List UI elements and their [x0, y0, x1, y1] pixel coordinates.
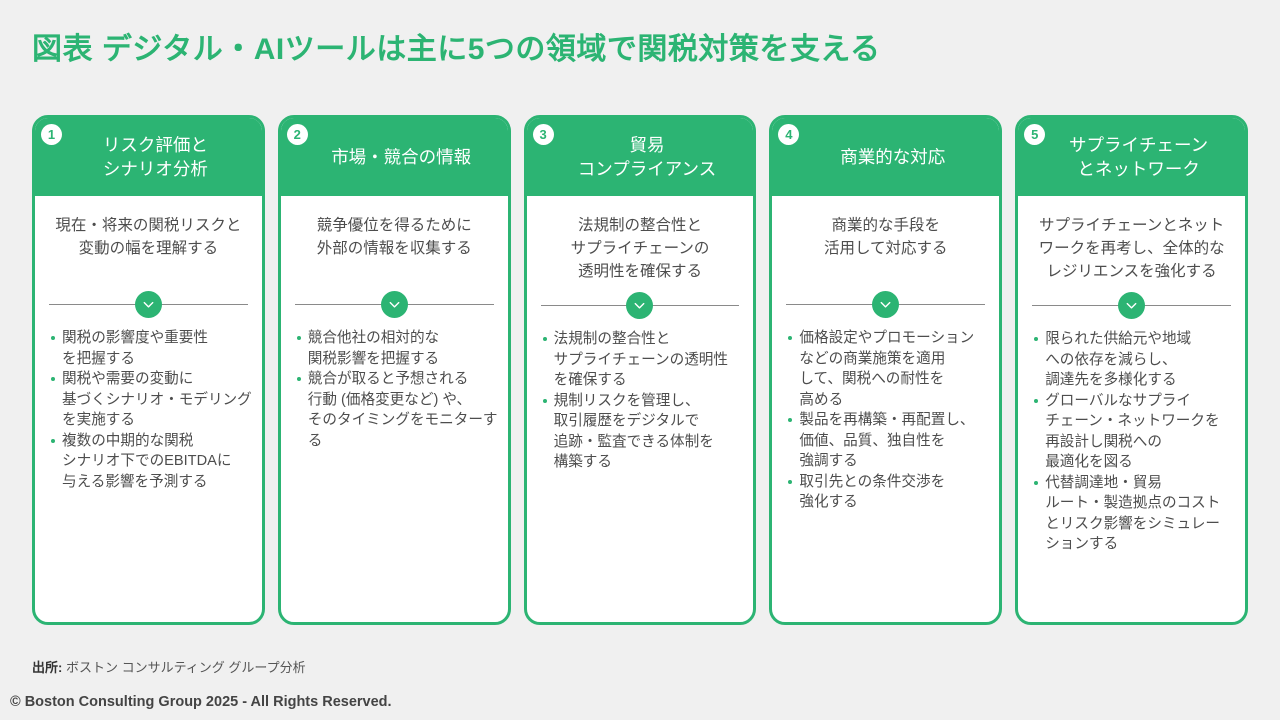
list-item: 競合他社の相対的な 関税影響を把握する [295, 328, 498, 369]
card-3-subtitle: 法規制の整合性と サプライチェーンの 透明性を確保する [527, 196, 754, 283]
card-1-number-badge: 1 [41, 124, 62, 145]
chevron-down-icon [872, 291, 899, 318]
card-1-body: 現在・将来の関税リスクと 変動の幅を理解する 関税の影響度や重要性 を把握する … [35, 196, 262, 622]
card-3-body: 法規制の整合性と サプライチェーンの 透明性を確保する 法規制の整合性と サプラ… [527, 196, 754, 622]
list-item: 法規制の整合性と サプライチェーンの透明性 を確保する [541, 329, 744, 391]
list-item: 関税や需要の変動に 基づくシナリオ・モデリング を実施する [49, 369, 252, 431]
card-1-subtitle: 現在・将来の関税リスクと 変動の幅を理解する [35, 196, 262, 282]
source-label: 出所: [32, 660, 62, 675]
list-item: 代替調達地・貿易 ルート・製造拠点のコスト とリスク影響をシミュレー ションする [1032, 473, 1235, 555]
card-1-header: 1 リスク評価と シナリオ分析 [35, 118, 262, 196]
card-1: 1 リスク評価と シナリオ分析 現在・将来の関税リスクと 変動の幅を理解する 関… [32, 115, 265, 625]
card-4-divider [772, 282, 999, 326]
cards-container: 1 リスク評価と シナリオ分析 現在・将来の関税リスクと 変動の幅を理解する 関… [32, 115, 1248, 625]
list-item: 取引先との条件交渉を 強化する [786, 472, 989, 513]
card-2-title: 市場・競合の情報 [315, 145, 473, 169]
list-item: 価格設定やプロモーション などの商業施策を適用 して、関税への耐性を 高める [786, 328, 989, 410]
card-5-body: サプライチェーンとネット ワークを再考し、全体的な レジリエンスを強化する 限ら… [1018, 196, 1245, 622]
card-5-divider [1018, 283, 1245, 327]
card-2-subtitle: 競争優位を得るために 外部の情報を収集する [281, 196, 508, 282]
card-3-divider [527, 283, 754, 327]
card-2-divider [281, 282, 508, 326]
list-item: 限られた供給元や地域 への依存を減らし、 調達先を多様化する [1032, 329, 1235, 391]
card-2-body: 競争優位を得るために 外部の情報を収集する 競合他社の相対的な 関税影響を把握す… [281, 196, 508, 622]
card-2: 2 市場・競合の情報 競争優位を得るために 外部の情報を収集する 競合他社の相対… [278, 115, 511, 625]
card-5-number-badge: 5 [1024, 124, 1045, 145]
card-3-title: 貿易 コンプライアンス [562, 133, 718, 181]
copyright-notice: © Boston Consulting Group 2025 - All Rig… [10, 694, 392, 710]
page-title: 図表 デジタル・AIツールは主に5つの領域で関税対策を支える [32, 24, 881, 68]
card-4-subtitle: 商業的な手段を 活用して対応する [772, 196, 999, 282]
card-4-title: 商業的な対応 [824, 145, 947, 169]
card-5-bullets: 限られた供給元や地域 への依存を減らし、 調達先を多様化する グローバルなサプラ… [1018, 327, 1245, 622]
card-1-bullets: 関税の影響度や重要性 を把握する 関税や需要の変動に 基づくシナリオ・モデリング… [35, 326, 262, 622]
card-1-divider [35, 282, 262, 326]
card-2-header: 2 市場・競合の情報 [281, 118, 508, 196]
card-4-bullets: 価格設定やプロモーション などの商業施策を適用 して、関税への耐性を 高める 製… [772, 326, 999, 622]
card-3-header: 3 貿易 コンプライアンス [527, 118, 754, 196]
list-item: 複数の中期的な関税 シナリオ下でのEBITDAに 与える影響を予測する [49, 431, 252, 493]
card-1-title: リスク評価と シナリオ分析 [87, 133, 210, 181]
card-2-bullets: 競合他社の相対的な 関税影響を把握する 競合が取ると予想される 行動 (価格変更… [281, 326, 508, 622]
card-5-header: 5 サプライチェーン とネットワーク [1018, 118, 1245, 196]
chevron-down-icon [1118, 292, 1145, 319]
card-4-header: 4 商業的な対応 [772, 118, 999, 196]
card-2-number-badge: 2 [287, 124, 308, 145]
source-text: ボストン コンサルティング グループ分析 [66, 660, 306, 675]
card-5: 5 サプライチェーン とネットワーク サプライチェーンとネット ワークを再考し、… [1015, 115, 1248, 625]
card-4: 4 商業的な対応 商業的な手段を 活用して対応する 価格設定やプロモーション な… [769, 115, 1002, 625]
list-item: グローバルなサプライ チェーン・ネットワークを 再設計し関税への 最適化を図る [1032, 391, 1235, 473]
card-4-body: 商業的な手段を 活用して対応する 価格設定やプロモーション などの商業施策を適用… [772, 196, 999, 622]
list-item: 規制リスクを管理し、 取引履歴をデジタルで 追跡・監査できる体制を 構築する [541, 391, 744, 473]
card-4-number-badge: 4 [778, 124, 799, 145]
card-5-title: サプライチェーン とネットワーク [1053, 133, 1210, 181]
chevron-down-icon [135, 291, 162, 318]
chevron-down-icon [626, 292, 653, 319]
source-note: 出所: ボストン コンサルティング グループ分析 [32, 657, 306, 676]
chevron-down-icon [381, 291, 408, 318]
list-item: 関税の影響度や重要性 を把握する [49, 328, 252, 369]
list-item: 製品を再構築・再配置し、 価値、品質、独自性を 強調する [786, 410, 989, 472]
card-5-subtitle: サプライチェーンとネット ワークを再考し、全体的な レジリエンスを強化する [1018, 196, 1245, 283]
card-3-number-badge: 3 [533, 124, 554, 145]
list-item: 競合が取ると予想される 行動 (価格変更など) や、 そのタイミングをモニターす… [295, 369, 498, 451]
card-3-bullets: 法規制の整合性と サプライチェーンの透明性 を確保する 規制リスクを管理し、 取… [527, 327, 754, 622]
card-3: 3 貿易 コンプライアンス 法規制の整合性と サプライチェーンの 透明性を確保す… [524, 115, 757, 625]
